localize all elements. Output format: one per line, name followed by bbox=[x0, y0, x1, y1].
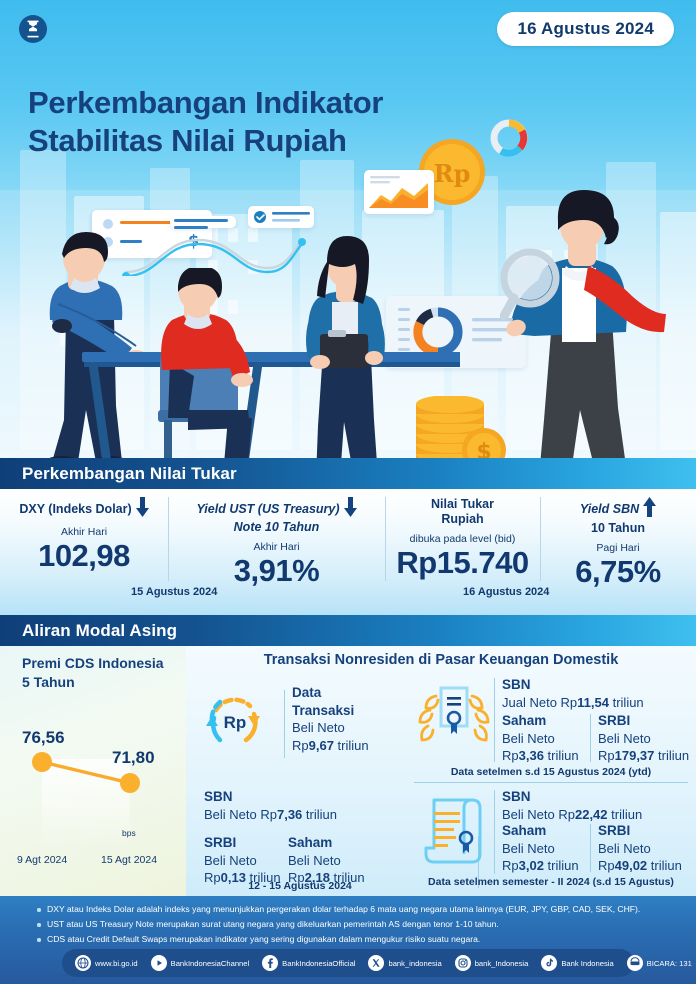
infographic-page: 16 Agustus 2024 Perkembangan Indikator S… bbox=[0, 0, 696, 984]
rupiah-cycle-icon: Rp bbox=[202, 688, 268, 754]
arrow-down-icon bbox=[136, 497, 149, 521]
x-twitter-icon bbox=[368, 955, 384, 971]
social-item-x[interactable]: bank_indonesia bbox=[368, 955, 441, 971]
semester-sbn-post: triliun bbox=[608, 807, 643, 822]
daily-srbi-label: SRBI bbox=[204, 834, 300, 852]
social-label: bank_indonesia bbox=[388, 959, 441, 968]
facebook-icon bbox=[262, 955, 278, 971]
bank-indonesia-logo bbox=[18, 14, 48, 44]
social-label: BICARA: 131 bbox=[647, 959, 692, 968]
ytd-saham-label: Saham bbox=[502, 712, 588, 730]
semester-sbn-label: SBN bbox=[502, 788, 684, 806]
date-badge-label: 16 Agustus 2024 bbox=[517, 19, 654, 39]
ytd-sbn-pre: Jual Neto Rp bbox=[502, 695, 577, 710]
semester-sbn-pre: Beli Neto Rp bbox=[502, 807, 575, 822]
scroll-certificate-icon bbox=[424, 794, 490, 868]
section-bar-exchange: Perkembangan Nilai Tukar bbox=[0, 458, 696, 489]
semester-srbi-line1: Beli Neto bbox=[598, 840, 694, 857]
daily-sbn-label: SBN bbox=[204, 788, 400, 806]
social-item-website[interactable]: www.bi.go.id bbox=[75, 955, 138, 971]
daily-srbi-line1: Beli Neto bbox=[204, 852, 300, 869]
daily-sbn-pre: Beli Neto Rp bbox=[204, 807, 277, 822]
fx-rupiah-sub: dibuka pada level (bid) bbox=[385, 533, 540, 545]
ytd-srbi-label: SRBI bbox=[598, 712, 694, 730]
fx-date-left: 15 Agustus 2024 bbox=[131, 586, 217, 598]
svg-text:Rp: Rp bbox=[434, 159, 471, 188]
cds-chart: Premi CDS Indonesia 5 Tahun 76,56 71,80 … bbox=[0, 646, 186, 896]
fx-ust-value: 3,91% bbox=[168, 555, 385, 586]
daily-saham-label: Saham bbox=[288, 834, 392, 852]
daily-srbi-block: SRBI Beli Neto Rp0,13 triliun bbox=[204, 834, 300, 886]
ytd-saham-block: Saham Beli Neto Rp3,36 triliun bbox=[502, 712, 588, 764]
footnote-item: CDS atau Credit Default Swaps merupakan … bbox=[36, 932, 676, 947]
footer: DXY atau Indeks Dolar adalah indeks yang… bbox=[0, 896, 696, 984]
semester-card: SBN Beli Neto Rp22,42 triliun Saham Beli… bbox=[414, 788, 688, 892]
footnotes: DXY atau Indeks Dolar adalah indeks yang… bbox=[36, 902, 676, 947]
fx-sbn-sub: Pagi Hari bbox=[540, 542, 696, 554]
nonresident-title: Transaksi Nonresiden di Pasar Keuangan D… bbox=[186, 652, 696, 668]
social-item-bicara[interactable]: BICARA: 131 bbox=[627, 955, 692, 971]
ytd-saham-num: 3,36 bbox=[519, 748, 544, 763]
ytd-saham-post: triliun bbox=[544, 748, 579, 763]
fx-date-right: 16 Agustus 2024 bbox=[463, 586, 549, 598]
arrow-up-icon bbox=[643, 497, 656, 521]
fx-rupiah-label: Nilai Tukar bbox=[385, 497, 540, 512]
ytd-srbi-post: triliun bbox=[654, 748, 689, 763]
date-badge: 16 Agustus 2024 bbox=[497, 12, 674, 46]
ytd-sbn-block: SBN Jual Neto Rp11,54 triliun bbox=[502, 676, 684, 711]
social-label: BankIndonesiaOfficial bbox=[282, 959, 355, 968]
daily-sbn-block: SBN Beli Neto Rp7,36 triliun bbox=[204, 788, 400, 823]
social-item-instagram[interactable]: bank_Indonesia bbox=[455, 955, 529, 971]
semester-srbi-num: 49,02 bbox=[615, 858, 648, 873]
section-title-flows: Aliran Modal Asing bbox=[0, 621, 177, 641]
arrow-down-icon bbox=[344, 497, 357, 521]
cds-point-0 bbox=[32, 752, 52, 772]
ytd-saham-pre: Rp bbox=[502, 748, 519, 763]
daily-rp-num: 9,67 bbox=[309, 738, 334, 753]
daily-caption: 12 - 15 Agustus 2024 bbox=[204, 880, 396, 892]
laurel-certificate-icon bbox=[416, 682, 490, 752]
illus-person-seated bbox=[136, 268, 266, 460]
fx-sbn-value: 6,75% bbox=[540, 556, 696, 587]
fx-column-ust: Yield UST (US Treasury) Note 10 Tahun Ak… bbox=[168, 489, 385, 581]
semester-saham-num: 3,02 bbox=[519, 858, 544, 873]
fx-dxy-label: DXY (Indeks Dolar) bbox=[19, 502, 131, 516]
tiktok-icon bbox=[541, 955, 557, 971]
cds-xlabel-0: 9 Agt 2024 bbox=[17, 854, 67, 866]
cards-divider bbox=[414, 782, 688, 783]
semester-srbi-post: triliun bbox=[647, 858, 682, 873]
semester-saham-pre: Rp bbox=[502, 858, 519, 873]
svg-text:Rp: Rp bbox=[224, 713, 247, 732]
social-item-facebook[interactable]: BankIndonesiaOfficial bbox=[262, 955, 355, 971]
fx-dxy-sub: Akhir Hari bbox=[0, 526, 168, 538]
semester-saham-line1: Beli Neto bbox=[502, 840, 588, 857]
flows-panel: Premi CDS Indonesia 5 Tahun 76,56 71,80 … bbox=[0, 646, 696, 896]
daily-saham-block: Saham Beli Neto Rp2,18 triliun bbox=[288, 834, 392, 886]
ytd-sbn-label: SBN bbox=[502, 676, 684, 694]
semester-srbi-label: SRBI bbox=[598, 822, 694, 840]
cds-unit: bps bbox=[122, 828, 136, 838]
social-label: bank_Indonesia bbox=[475, 959, 529, 968]
semester-divider bbox=[494, 790, 495, 874]
semester-saham-label: Saham bbox=[502, 822, 588, 840]
fx-column-sbn: Yield SBN 10 Tahun Pagi Hari 6,75% bbox=[540, 489, 696, 581]
title-line-2: Stabilitas Nilai Rupiah bbox=[28, 122, 458, 160]
daily-saham-line1: Beli Neto bbox=[288, 852, 392, 869]
ytd-caption: Data setelmen s.d 15 Agustus 2024 (ytd) bbox=[414, 766, 688, 778]
fx-ust-label2: Note 10 Tahun bbox=[234, 520, 320, 534]
fx-column-dxy: DXY (Indeks Dolar) Akhir Hari 102,98 bbox=[0, 489, 168, 581]
daily-rp-pre: Rp bbox=[292, 738, 309, 753]
social-label: Bank Indonesia bbox=[561, 959, 613, 968]
page-title: Perkembangan Indikator Stabilitas Nilai … bbox=[28, 84, 458, 160]
fx-sbn-label: Yield SBN bbox=[580, 502, 639, 516]
semester-saham-block: Saham Beli Neto Rp3,02 triliun bbox=[502, 822, 588, 874]
social-label: BankIndonesiaChannel bbox=[171, 959, 250, 968]
semester-sub-divider bbox=[590, 824, 591, 872]
instagram-icon bbox=[455, 955, 471, 971]
illus-person-clipboard bbox=[290, 236, 410, 460]
ytd-srbi-line1: Beli Neto bbox=[598, 730, 694, 747]
youtube-icon bbox=[151, 955, 167, 971]
semester-srbi-block: SRBI Beli Neto Rp49,02 triliun bbox=[598, 822, 694, 874]
illus-donut-small bbox=[487, 116, 531, 160]
social-bar: www.bi.go.id BankIndonesiaChannel BankIn… bbox=[62, 949, 634, 977]
title-line-1: Perkembangan Indikator bbox=[28, 84, 458, 122]
fx-ust-label: Yield UST (US Treasury) bbox=[196, 502, 339, 516]
semester-sbn-block: SBN Beli Neto Rp22,42 triliun bbox=[502, 788, 684, 823]
daily-rp-post: triliun bbox=[334, 738, 369, 753]
footnote-item: DXY atau Indeks Dolar adalah indeks yang… bbox=[36, 902, 676, 917]
section-bar-flows: Aliran Modal Asing bbox=[0, 615, 696, 646]
fx-ust-sub: Akhir Hari bbox=[168, 541, 385, 553]
illus-coin-stack: $ bbox=[412, 396, 512, 460]
daily-divider bbox=[284, 690, 285, 758]
svg-text:$: $ bbox=[476, 440, 491, 460]
ytd-sbn-post: triliun bbox=[609, 695, 644, 710]
fx-column-rupiah: Nilai Tukar Rupiah dibuka pada level (bi… bbox=[385, 489, 540, 581]
fx-sbn-label2: 10 Tahun bbox=[540, 521, 696, 536]
social-label: www.bi.go.id bbox=[95, 959, 138, 968]
nonresident-panel: Transaksi Nonresiden di Pasar Keuangan D… bbox=[186, 646, 696, 896]
ytd-srbi-pre: Rp bbox=[598, 748, 615, 763]
ytd-srbi-num: 179,37 bbox=[615, 748, 655, 763]
call-center-icon bbox=[627, 955, 643, 971]
semester-srbi-pre: Rp bbox=[598, 858, 615, 873]
ytd-saham-line1: Beli Neto bbox=[502, 730, 588, 747]
ytd-srbi-block: SRBI Beli Neto Rp179,37 triliun bbox=[598, 712, 694, 764]
ytd-sbn-num: 11,54 bbox=[577, 695, 609, 710]
semester-sbn-num: 22,42 bbox=[575, 807, 608, 822]
fx-rupiah-value: Rp15.740 bbox=[385, 547, 540, 578]
ytd-sub-divider bbox=[590, 714, 591, 762]
cds-xlabel-1: 15 Agt 2024 bbox=[101, 854, 157, 866]
cds-value-1: 71,80 bbox=[112, 748, 155, 768]
cds-point-1 bbox=[120, 773, 140, 793]
fx-dxy-value: 102,98 bbox=[0, 540, 168, 571]
ytd-divider bbox=[494, 678, 495, 762]
semester-caption: Data setelmen semester - II 2024 (s.d 15… bbox=[414, 876, 688, 888]
section-title-exchange: Perkembangan Nilai Tukar bbox=[0, 464, 237, 484]
hero-section: 16 Agustus 2024 Perkembangan Indikator S… bbox=[0, 0, 696, 460]
social-item-tiktok[interactable]: Bank Indonesia bbox=[541, 955, 613, 971]
illus-person-magnifier bbox=[500, 170, 675, 460]
daily-sbn-num: 7,36 bbox=[277, 807, 302, 822]
daily-sbn-post: triliun bbox=[302, 807, 337, 822]
semester-saham-post: triliun bbox=[544, 858, 579, 873]
exchange-panel: DXY (Indeks Dolar) Akhir Hari 102,98 Yie… bbox=[0, 489, 696, 615]
ytd-card: SBN Jual Neto Rp11,54 triliun Saham Beli… bbox=[414, 674, 688, 780]
fx-rupiah-label2: Rupiah bbox=[385, 512, 540, 527]
footnote-item: UST atau US Treasury Note merupakan sura… bbox=[36, 917, 676, 932]
social-item-youtube[interactable]: BankIndonesiaChannel bbox=[151, 955, 250, 971]
cds-value-0: 76,56 bbox=[22, 728, 65, 748]
website-icon bbox=[75, 955, 91, 971]
